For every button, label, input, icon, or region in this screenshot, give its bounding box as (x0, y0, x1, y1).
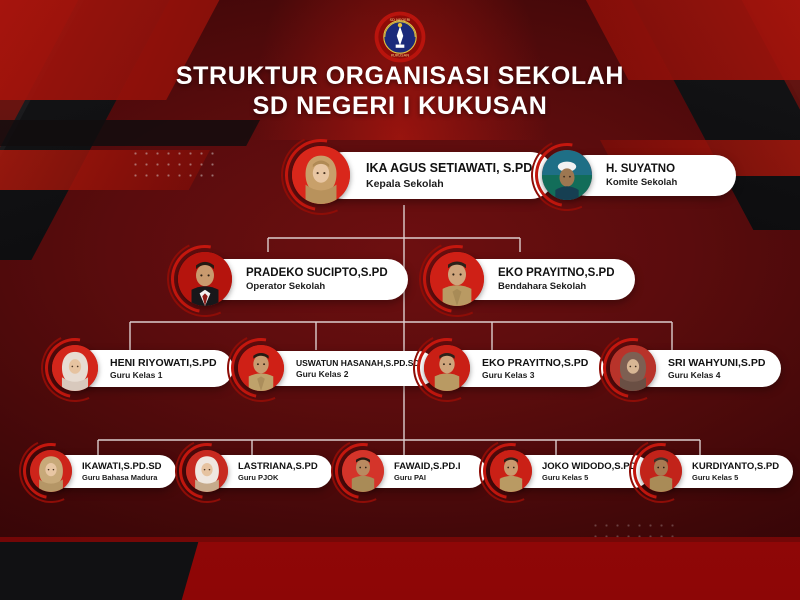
avatar (238, 345, 284, 391)
avatar-photo-male-uniform (424, 345, 470, 391)
bottom-black-wedge (0, 542, 198, 600)
org-node-guru-kelas-3[interactable]: EKO PRAYITNO,S.PD Guru Kelas 3 (424, 345, 604, 391)
person-name: EKO PRAYITNO,S.PD (498, 267, 615, 279)
org-node-guru-kelas-1[interactable]: HENI RIYOWATI,S.PD Guru Kelas 1 (52, 345, 233, 391)
avatar (610, 345, 656, 391)
avatar-photo-male-uniform (640, 450, 682, 492)
background-sliver-left (0, 120, 260, 146)
org-node-guru-pai[interactable]: FAWAID,S.PD.I Guru PAI (342, 450, 486, 492)
person-role: Guru Bahasa Madura (82, 473, 162, 482)
svg-text:KUKUSAN: KUKUSAN (391, 52, 409, 57)
background-diagonal-black-left-2 (0, 0, 190, 320)
person-role: Bendahara Sekolah (498, 281, 615, 292)
background-dot-grid-left (130, 148, 220, 184)
avatar-photo-female-hijab (52, 345, 98, 391)
avatar-photo-male-uniform (490, 450, 532, 492)
person-role: Komite Sekolah (606, 177, 714, 188)
avatar-photo-male-uniform (342, 450, 384, 492)
org-node-komite-sekolah[interactable]: H. SUYATNO Komite Sekolah (542, 150, 736, 200)
avatar-photo-female-hijab (610, 345, 656, 391)
avatar (424, 345, 470, 391)
avatar-photo-male-uniform (238, 345, 284, 391)
avatar-photo-female-hijab (30, 450, 72, 492)
person-role: Guru Kelas 2 (296, 369, 420, 379)
avatar (342, 450, 384, 492)
title-line-2: SD NEGERI I KUKUSAN (0, 92, 800, 122)
avatar (292, 146, 350, 204)
person-role: Guru Kelas 5 (692, 473, 779, 482)
person-name: IKA AGUS SETIAWATI, S.PD (366, 161, 532, 175)
org-node-guru-pjok[interactable]: LASTRIANA,S.PD Guru PJOK (186, 450, 332, 492)
org-node-guru-kelas-4[interactable]: SRI WAHYUNI,S.PD Guru Kelas 4 (610, 345, 781, 391)
person-name: USWATUN HASANAH,S.PD.SD (296, 358, 420, 368)
background-diagonal-red-left-2 (0, 150, 210, 190)
person-name: HENI RIYOWATI,S.PD (110, 357, 217, 369)
school-emblem-logo: SD NEGERI KUKUSAN (373, 10, 427, 64)
person-name: H. SUYATNO (606, 163, 714, 175)
person-role: Guru Kelas 3 (482, 370, 588, 380)
org-node-operator-sekolah[interactable]: PRADEKO SUCIPTO,S.PD Operator Sekolah (178, 252, 408, 306)
avatar (178, 252, 232, 306)
person-name: LASTRIANA,S.PD (238, 461, 318, 472)
avatar (30, 450, 72, 492)
person-name: PRADEKO SUCIPTO,S.PD (246, 267, 388, 279)
bottom-band (0, 542, 800, 600)
avatar-photo-male-uniform (430, 252, 484, 306)
person-role: Kepala Sekolah (366, 178, 532, 190)
avatar-photo-female-hijab (186, 450, 228, 492)
org-node-guru-kelas-5-kurdiyanto[interactable]: KURDIYANTO,S.PD Guru Kelas 5 (640, 450, 793, 492)
avatar (542, 150, 592, 200)
person-role: Guru PJOK (238, 473, 318, 482)
person-name: KURDIYANTO,S.PD (692, 461, 779, 472)
avatar (640, 450, 682, 492)
avatar-photo-female-hijab (292, 146, 350, 204)
org-node-guru-bahasa-madura[interactable]: IKAWATI,S.PD.SD Guru Bahasa Madura (30, 450, 176, 492)
avatar-photo-male-suit (178, 252, 232, 306)
avatar (490, 450, 532, 492)
org-node-kepala-sekolah[interactable]: IKA AGUS SETIAWATI, S.PD Kepala Sekolah (292, 146, 554, 204)
avatar (430, 252, 484, 306)
person-name: IKAWATI,S.PD.SD (82, 461, 162, 472)
org-node-guru-kelas-2[interactable]: USWATUN HASANAH,S.PD.SD Guru Kelas 2 (238, 345, 436, 391)
background-dot-grid-right (590, 520, 680, 556)
organization-chart-poster: SD NEGERI KUKUSAN STRUKTUR ORGANISASI SE… (0, 0, 800, 600)
background-diagonal-black-left (0, 0, 260, 260)
person-role: Guru Kelas 1 (110, 370, 217, 380)
org-node-bendahara-sekolah[interactable]: EKO PRAYITNO,S.PD Bendahara Sekolah (430, 252, 635, 306)
person-name: FAWAID,S.PD.I (394, 461, 472, 472)
avatar-photo-male-cap (542, 150, 592, 200)
person-role: Guru Kelas 5 (542, 473, 636, 482)
person-name: JOKO WIDODO,S.PD (542, 461, 636, 472)
svg-text:SD NEGERI: SD NEGERI (390, 17, 411, 22)
bottom-band-edge (0, 537, 800, 542)
org-node-guru-kelas-5-joko[interactable]: JOKO WIDODO,S.PD Guru Kelas 5 (490, 450, 650, 492)
person-role: Guru PAI (394, 473, 472, 482)
avatar (52, 345, 98, 391)
person-role: Operator Sekolah (246, 281, 388, 292)
background-diagonal-black-right-2 (640, 0, 800, 270)
poster-title: STRUKTUR ORGANISASI SEKOLAH SD NEGERI I … (0, 62, 800, 121)
avatar (186, 450, 228, 492)
person-name: EKO PRAYITNO,S.PD (482, 357, 588, 369)
person-role: Guru Kelas 4 (668, 370, 765, 380)
title-line-1: STRUKTUR ORGANISASI SEKOLAH (0, 62, 800, 92)
person-name: SRI WAHYUNI,S.PD (668, 357, 765, 369)
